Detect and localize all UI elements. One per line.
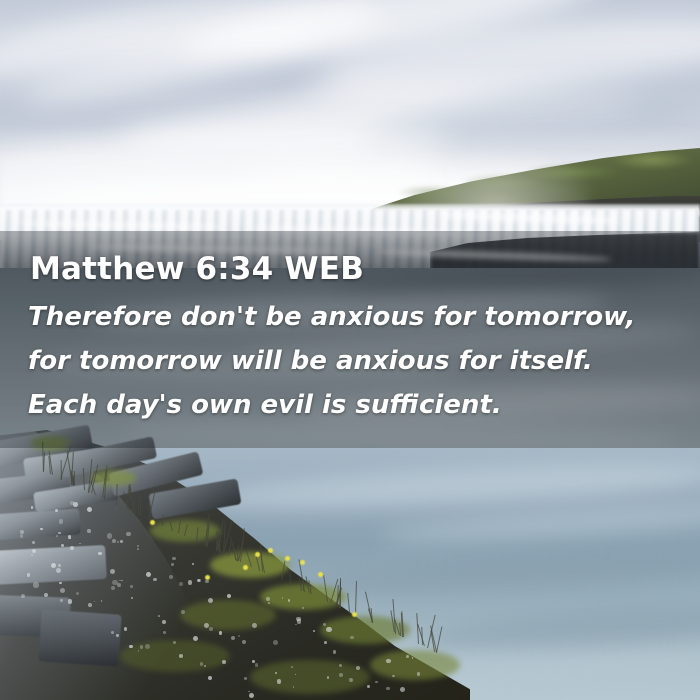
pebble-speck <box>68 535 71 538</box>
pebble-speck <box>179 582 183 586</box>
pebble-speck <box>219 631 223 635</box>
pebble-speck <box>76 592 79 595</box>
pebble-speck <box>209 627 213 631</box>
pebble-speck <box>172 557 176 561</box>
grass-blade <box>162 515 164 526</box>
pebble-speck <box>327 676 329 678</box>
pebble-speck <box>31 506 34 509</box>
verse-line-3: Each day's own evil is sufficient. <box>28 383 688 427</box>
pebble-speck <box>204 665 206 667</box>
pebble-speck <box>116 634 118 636</box>
pebble-speck <box>375 681 377 683</box>
pebble-speck <box>277 679 282 684</box>
pebble-speck <box>117 541 119 543</box>
pebble-speck <box>248 691 250 693</box>
pebble-speck <box>268 602 270 604</box>
pebble-speck <box>111 586 115 590</box>
yellow-flower <box>268 548 273 553</box>
pebble-speck <box>162 620 166 624</box>
grass-blade <box>337 585 339 607</box>
verse-image-canvas: Matthew 6:34 WEB Therefore don't be anxi… <box>0 0 700 700</box>
yellow-flower <box>255 552 260 557</box>
yellow-flower <box>150 520 155 525</box>
pebble-speck <box>60 599 62 601</box>
pebble-speck <box>222 660 226 664</box>
pebble-speck <box>169 575 173 579</box>
yellow-flower <box>285 556 290 561</box>
grass-blade <box>138 493 139 515</box>
pebble-speck <box>56 535 58 537</box>
moss-patch <box>250 660 370 694</box>
verse-reference-title: Matthew 6:34 WEB <box>30 251 364 287</box>
pebble-speck <box>73 502 77 506</box>
pebble-speck <box>126 532 131 537</box>
moss-patch <box>370 650 460 680</box>
pebble-speck <box>205 580 208 583</box>
pebble-speck <box>61 544 64 547</box>
pebble-speck <box>339 673 343 677</box>
pebble-speck <box>400 687 405 692</box>
pebble-speck <box>55 509 58 512</box>
verse-line-1: Therefore don't be anxious for tomorrow, <box>28 295 688 339</box>
pebble-speck <box>158 615 160 617</box>
pebble-speck <box>192 563 194 565</box>
pebble-speck <box>33 582 38 587</box>
pebble-speck <box>27 573 30 576</box>
pebble-speck <box>188 580 193 585</box>
pebble-speck <box>386 687 390 691</box>
grass-blade <box>60 460 61 480</box>
grass-blade <box>289 573 291 585</box>
pebble-speck <box>293 686 295 688</box>
pebble-speck <box>350 636 353 639</box>
pebble-speck <box>88 603 92 607</box>
pebble-speck <box>112 580 117 585</box>
pebble-speck <box>356 666 360 670</box>
pebble-speck <box>87 507 92 512</box>
verse-text-layer: Matthew 6:34 WEB Therefore don't be anxi… <box>0 231 700 448</box>
pebble-speck <box>146 572 151 577</box>
pebble-speck <box>417 672 420 675</box>
pebble-speck <box>227 594 231 598</box>
pebble-speck <box>275 672 277 674</box>
yellow-flower <box>300 560 305 565</box>
pebble-speck <box>137 545 139 547</box>
yellow-flower <box>243 565 248 570</box>
yellow-flower <box>318 572 323 577</box>
pebble-speck <box>131 597 133 599</box>
pebble-speck <box>111 631 114 634</box>
pebble-speck <box>117 583 121 587</box>
pebble-speck <box>56 568 61 573</box>
pebble-speck <box>32 541 35 544</box>
yellow-flower <box>352 612 357 617</box>
verse-body: Therefore don't be anxious for tomorrow,… <box>28 295 688 427</box>
pebble-speck <box>288 599 290 601</box>
pebble-speck <box>200 662 203 665</box>
moss-patch <box>180 600 276 630</box>
verse-line-2: for tomorrow will be anxious for itself. <box>28 339 688 383</box>
pebble-speck <box>291 666 293 668</box>
pebble-speck <box>140 645 144 649</box>
rock-slab <box>38 609 121 666</box>
pebble-speck <box>386 659 390 663</box>
pebble-speck <box>339 664 342 667</box>
moss-patch <box>120 640 230 672</box>
pebble-speck <box>51 563 56 568</box>
pebble-speck <box>324 641 327 644</box>
grass-blade <box>116 484 118 505</box>
pebble-speck <box>252 660 255 663</box>
pebble-speck <box>255 663 258 666</box>
pebble-speck <box>58 564 61 567</box>
pebble-speck <box>326 627 331 632</box>
pebble-speck <box>60 588 65 593</box>
pebble-speck <box>107 533 112 538</box>
pebble-speck <box>87 529 91 533</box>
pebble-speck <box>124 627 127 630</box>
